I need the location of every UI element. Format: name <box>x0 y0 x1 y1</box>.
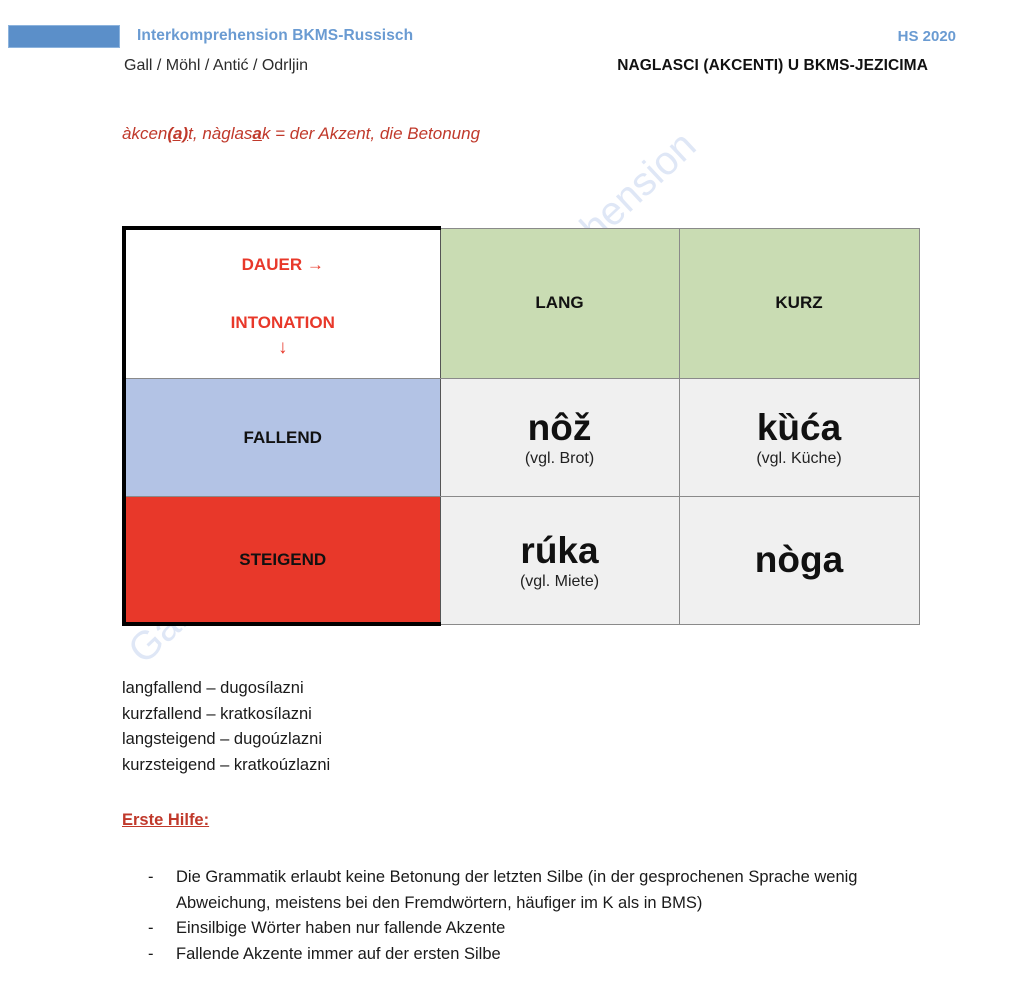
list-item: - Einsilbige Wörter haben nur fallende A… <box>148 916 888 942</box>
list-item: kurzsteigend – kratkoúzlazni <box>122 753 330 779</box>
logo-bar <box>8 25 120 48</box>
cell-steigend-kurz: nòga <box>679 497 919 625</box>
word-kuca: kȕća <box>680 407 919 448</box>
course-title: Interkomprehension BKMS-Russisch <box>137 27 413 45</box>
list-item: - Fallende Akzente immer auf der ersten … <box>148 942 888 968</box>
bullet-text: Einsilbige Wörter haben nur fallende Akz… <box>176 916 888 942</box>
erste-hilfe-heading: Erste Hilfe: <box>122 811 209 830</box>
column-header-lang: LANG <box>440 228 679 379</box>
row-label-steigend: STEIGEND <box>124 497 440 625</box>
note-kuca: (vgl. Küche) <box>680 450 919 468</box>
table-row: FALLEND nôž (vgl. Brot) kȕća (vgl. Küche… <box>124 379 919 497</box>
intro-mark-1: (a) <box>167 124 188 143</box>
semester-label: HS 2020 <box>898 28 956 45</box>
bullet-dash-icon: - <box>148 916 176 942</box>
table-row: STEIGEND rúka (vgl. Miete) nòga <box>124 497 919 625</box>
bullet-text: Die Grammatik erlaubt keine Betonung der… <box>176 865 888 916</box>
note-ruka: (vgl. Miete) <box>441 573 679 591</box>
bullet-dash-icon: - <box>148 942 176 968</box>
intro-definition-line: àkcen(a)t, nàglasak = der Akzent, die Be… <box>122 124 480 144</box>
bullet-text: Fallende Akzente immer auf der ersten Si… <box>176 942 888 968</box>
word-noz: nôž <box>441 407 679 448</box>
list-item: langsteigend – dugoúzlazni <box>122 727 330 753</box>
bullet-dash-icon: - <box>148 865 176 891</box>
terminology-list: langfallend – dugosílazni kurzfallend – … <box>122 676 330 778</box>
accent-table: DAUER → INTONATION ↓ LANG KURZ FALLEND n… <box>122 226 920 626</box>
row-label-fallend: FALLEND <box>124 379 440 497</box>
list-item: - Die Grammatik erlaubt keine Betonung d… <box>148 865 888 916</box>
column-header-kurz: KURZ <box>679 228 919 379</box>
cell-fallend-lang: nôž (vgl. Brot) <box>440 379 679 497</box>
cell-steigend-lang: rúka (vgl. Miete) <box>440 497 679 625</box>
intro-part-3: k = der Akzent, die Betonung <box>262 124 480 143</box>
list-item: kurzfallend – kratkosílazni <box>122 702 330 728</box>
bullet-list: - Die Grammatik erlaubt keine Betonung d… <box>148 865 888 967</box>
word-ruka: rúka <box>441 530 679 571</box>
arrow-down-icon: ↓ <box>126 338 440 358</box>
intro-mark-2: a <box>252 124 261 143</box>
note-noz: (vgl. Brot) <box>441 450 679 468</box>
intro-part-1: àkcen <box>122 124 167 143</box>
table-corner-cell: DAUER → INTONATION ↓ <box>124 228 440 379</box>
intro-part-2: t, nàglas <box>188 124 252 143</box>
document-page: Interkomprehension BKMS-Russisch Gall / … <box>0 0 1024 1004</box>
table-header-row: DAUER → INTONATION ↓ LANG KURZ <box>124 228 919 379</box>
word-noga: nòga <box>680 539 919 580</box>
intonation-label: INTONATION <box>126 314 440 332</box>
authors-line: Gall / Möhl / Antić / Odrljin <box>124 57 308 75</box>
dauer-label: DAUER → <box>126 256 440 274</box>
document-title: NAGLASCI (AKCENTI) U BKMS-JEZICIMA <box>617 57 928 75</box>
list-item: langfallend – dugosílazni <box>122 676 330 702</box>
cell-fallend-kurz: kȕća (vgl. Küche) <box>679 379 919 497</box>
